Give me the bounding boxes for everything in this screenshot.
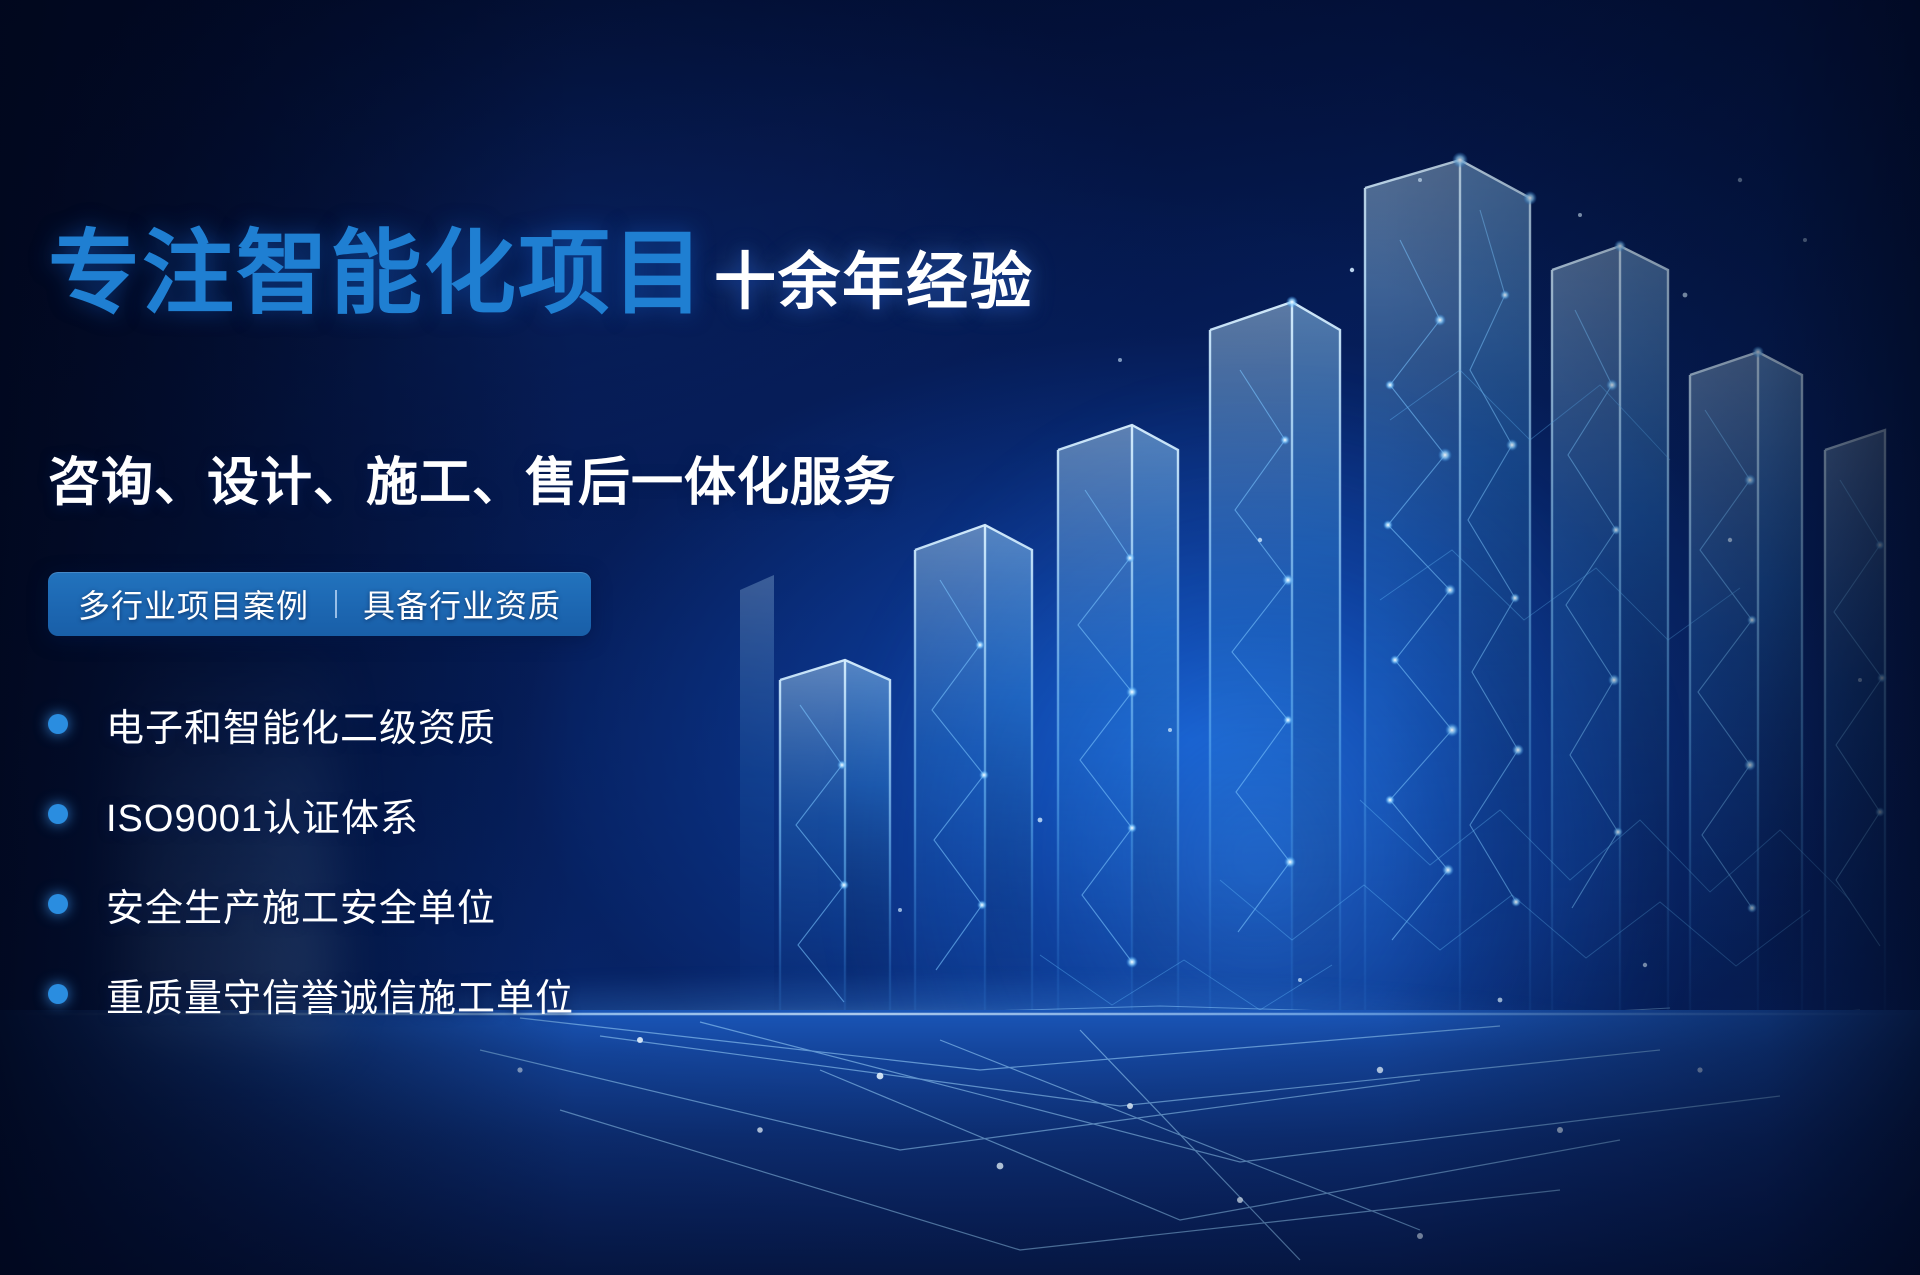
bullet-dot-icon bbox=[48, 804, 68, 824]
badge-left-label: 多行业项目案例 bbox=[78, 581, 309, 627]
subtitle-text: 咨询、设计、施工、售后一体化服务 bbox=[48, 440, 896, 515]
credentials-badge[interactable]: 多行业项目案例 具备行业资质 bbox=[48, 572, 591, 636]
list-item: 安全生产施工安全单位 bbox=[48, 870, 574, 938]
hero-banner: 专注智能化项目 十余年经验 咨询、设计、施工、售后一体化服务 多行业项目案例 具… bbox=[0, 0, 1920, 1275]
headline-main-text: 专注智能化项目 bbox=[48, 228, 706, 320]
headline-sub-text: 十余年经验 bbox=[714, 252, 1034, 314]
list-item-label: 重质量守信誉诚信施工单位 bbox=[106, 967, 574, 1022]
list-item-label: 电子和智能化二级资质 bbox=[106, 697, 496, 752]
list-item: ISO9001认证体系 bbox=[48, 780, 574, 848]
hero-copy: 专注智能化项目 十余年经验 咨询、设计、施工、售后一体化服务 多行业项目案例 具… bbox=[0, 0, 820, 1275]
bullet-dot-icon bbox=[48, 714, 68, 734]
list-item-label: ISO9001认证体系 bbox=[106, 787, 419, 842]
list-item: 重质量守信誉诚信施工单位 bbox=[48, 960, 574, 1028]
bullet-dot-icon bbox=[48, 984, 68, 1004]
list-item-label: 安全生产施工安全单位 bbox=[106, 877, 496, 932]
bullet-dot-icon bbox=[48, 894, 68, 914]
badge-divider bbox=[335, 590, 337, 618]
page-title: 专注智能化项目 十余年经验 bbox=[48, 228, 1034, 320]
list-item: 电子和智能化二级资质 bbox=[48, 690, 574, 758]
badge-right-label: 具备行业资质 bbox=[363, 581, 561, 627]
qualification-list: 电子和智能化二级资质 ISO9001认证体系 安全生产施工安全单位 重质量守信誉… bbox=[48, 690, 574, 1050]
